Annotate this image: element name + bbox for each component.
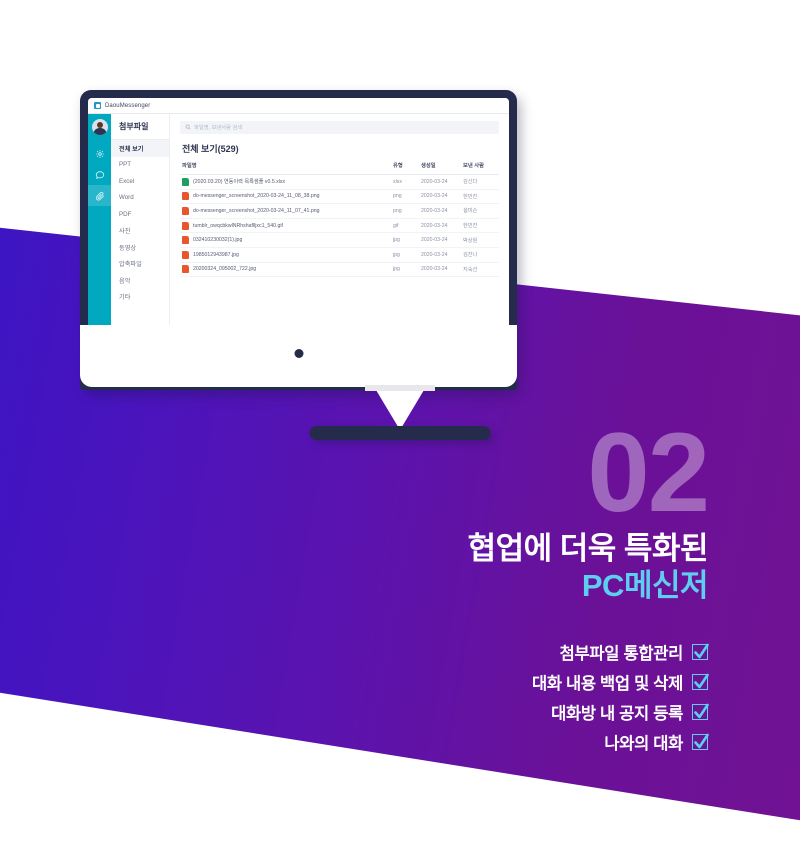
file-name-cell: (2020.03.20) 연동이력 목록샘플 v0.5.xlsx bbox=[182, 178, 393, 186]
checkbox-checked-icon bbox=[692, 704, 708, 720]
column-header-sender: 보낸 사람 bbox=[463, 161, 497, 169]
sidebar-item-word[interactable]: Word bbox=[111, 190, 169, 207]
file-name-cell: do-messenger_screenshot_2020-03-24_11_07… bbox=[182, 207, 393, 215]
file-type-text: png bbox=[393, 208, 421, 214]
avatar-body bbox=[93, 128, 106, 135]
sidebar-item-pdf[interactable]: PDF bbox=[111, 206, 169, 223]
sidebar-header: 첨부파일 bbox=[111, 114, 169, 140]
file-table-header: 파일명 유형 생성일 보낸 사람 bbox=[180, 161, 499, 175]
table-row[interactable]: 1985012943987.jpgjpg2020-03-24김잔나 bbox=[180, 248, 499, 263]
monitor-screen: DaouMessenger bbox=[88, 98, 509, 325]
file-name-cell: 20200324_095002_722.jpg bbox=[182, 265, 393, 273]
search-row: 파일명, 보낸사람 검색 bbox=[180, 114, 499, 140]
file-name-text: 20200324_095002_722.jpg bbox=[193, 266, 256, 272]
file-date-text: 2020-03-24 bbox=[421, 179, 463, 185]
file-sender-text: 지숙선 bbox=[463, 266, 497, 273]
sidebar-item-excel[interactable]: Excel bbox=[111, 173, 169, 190]
content-title: 전체 보기(529) bbox=[180, 140, 499, 161]
checkbox-checked-icon bbox=[692, 644, 708, 660]
chat-bubble-icon[interactable] bbox=[88, 164, 111, 185]
file-type-text: xlsx bbox=[393, 179, 421, 185]
user-avatar[interactable] bbox=[92, 119, 108, 135]
promo-slide: DaouMessenger bbox=[0, 0, 800, 850]
sidebar-item-ppt[interactable]: PPT bbox=[111, 157, 169, 174]
monitor-stand-neck bbox=[373, 385, 427, 430]
file-name-cell: do-messenger_screenshot_2020-03-24_11_08… bbox=[182, 192, 393, 200]
attachment-category-sidebar: 첨부파일 전체 보기 PPT Excel Word PDF 사진 동영상 압축파… bbox=[111, 114, 170, 325]
table-row[interactable]: do-messenger_screenshot_2020-03-24_11_07… bbox=[180, 204, 499, 219]
file-name-text: 1985012943987.jpg bbox=[193, 252, 239, 258]
file-type-icon bbox=[182, 207, 189, 215]
file-sender-text: 한민진 bbox=[463, 222, 497, 229]
file-sender-text: 박상원 bbox=[463, 237, 497, 244]
file-date-text: 2020-03-24 bbox=[421, 208, 463, 214]
file-type-text: gif bbox=[393, 223, 421, 229]
file-type-icon bbox=[182, 192, 189, 200]
file-sender-text: 한민진 bbox=[463, 193, 497, 200]
file-type-text: jpg bbox=[393, 237, 421, 243]
checkbox-checked-icon bbox=[692, 734, 708, 750]
monitor-chin bbox=[80, 325, 517, 387]
file-sender-text: 김잔나 bbox=[463, 251, 497, 258]
file-date-text: 2020-03-24 bbox=[421, 252, 463, 258]
file-type-text: png bbox=[393, 193, 421, 199]
app-title: DaouMessenger bbox=[105, 103, 150, 109]
table-row[interactable]: tumblr_owqcbkwlNRhshaflljxc1_540.gifgif2… bbox=[180, 219, 499, 234]
file-type-icon bbox=[182, 265, 189, 273]
table-row[interactable]: (2020.03.20) 연동이력 목록샘플 v0.5.xlsxxlsx2020… bbox=[180, 175, 499, 190]
promo-headline: 협업에 더욱 특화된 bbox=[468, 531, 708, 568]
table-row[interactable]: 20200324_095002_722.jpgjpg2020-03-24지숙선 bbox=[180, 263, 499, 278]
file-type-icon bbox=[182, 178, 189, 186]
sidebar-item-archive[interactable]: 압축파일 bbox=[111, 256, 169, 273]
file-date-text: 2020-03-24 bbox=[421, 193, 463, 199]
feature-label: 첨부파일 통합관리 bbox=[560, 640, 683, 664]
file-date-text: 2020-03-24 bbox=[421, 223, 463, 229]
attachment-content-panel: 파일명, 보낸사람 검색 전체 보기(529) 파일명 유형 생성일 보낸 사람… bbox=[170, 114, 509, 325]
section-number: 02 bbox=[468, 424, 708, 523]
imac-monitor: DaouMessenger bbox=[80, 90, 517, 390]
search-placeholder: 파일명, 보낸사람 검색 bbox=[194, 123, 242, 131]
file-name-text: do-messenger_screenshot_2020-03-24_11_07… bbox=[193, 208, 320, 214]
checkbox-checked-icon bbox=[692, 674, 708, 690]
daou-logo-icon bbox=[94, 102, 101, 109]
column-header-filename: 파일명 bbox=[182, 161, 393, 169]
feature-item: 대화 내용 백업 및 삭제 bbox=[532, 670, 708, 694]
promo-subheadline: PC메신저 bbox=[468, 568, 708, 605]
file-type-icon bbox=[182, 222, 189, 230]
feature-item: 나와의 대화 bbox=[604, 730, 708, 754]
monitor-stand-base bbox=[310, 426, 491, 440]
feature-item: 첨부파일 통합관리 bbox=[560, 640, 708, 664]
monitor-stand-neck-shade bbox=[365, 385, 435, 391]
feature-label: 대화 내용 백업 및 삭제 bbox=[532, 670, 683, 694]
file-table-body: (2020.03.20) 연동이력 목록샘플 v0.5.xlsxxlsx2020… bbox=[180, 175, 499, 277]
table-row[interactable]: do-messenger_screenshot_2020-03-24_11_08… bbox=[180, 190, 499, 205]
sidebar-item-etc[interactable]: 기타 bbox=[111, 289, 169, 306]
file-name-cell: 1985012943987.jpg bbox=[182, 251, 393, 259]
monitor-logo-dot bbox=[294, 349, 303, 358]
icon-rail bbox=[88, 114, 111, 325]
file-type-text: jpg bbox=[393, 252, 421, 258]
file-sender-text: 설미슨 bbox=[463, 207, 497, 214]
app-body: 첨부파일 전체 보기 PPT Excel Word PDF 사진 동영상 압축파… bbox=[88, 114, 509, 325]
feature-list: 첨부파일 통합관리대화 내용 백업 및 삭제대화방 내 공지 등록나와의 대화 bbox=[532, 640, 708, 754]
feature-label: 나와의 대화 bbox=[604, 730, 683, 754]
file-name-cell: tumblr_owqcbkwlNRhshaflljxc1_540.gif bbox=[182, 222, 393, 230]
paperclip-attachment-icon[interactable] bbox=[88, 185, 111, 206]
promo-text-block: 02 협업에 더욱 특화된 PC메신저 bbox=[468, 424, 708, 605]
file-name-text: do-messenger_screenshot_2020-03-24_11_08… bbox=[193, 193, 320, 199]
table-row[interactable]: 032410230032(1).jpgjpg2020-03-24박상원 bbox=[180, 233, 499, 248]
file-type-icon bbox=[182, 251, 189, 259]
search-icon bbox=[185, 124, 191, 130]
file-name-cell: 032410230032(1).jpg bbox=[182, 236, 393, 244]
file-name-text: (2020.03.20) 연동이력 목록샘플 v0.5.xlsx bbox=[193, 178, 285, 185]
file-name-text: 032410230032(1).jpg bbox=[193, 237, 242, 243]
settings-gear-icon[interactable] bbox=[88, 143, 111, 164]
sidebar-item-video[interactable]: 동영상 bbox=[111, 239, 169, 256]
column-header-type: 유형 bbox=[393, 161, 421, 169]
app-titlebar: DaouMessenger bbox=[88, 98, 509, 114]
file-sender-text: 김신다 bbox=[463, 178, 497, 185]
file-date-text: 2020-03-24 bbox=[421, 266, 463, 272]
feature-item: 대화방 내 공지 등록 bbox=[551, 700, 708, 724]
file-type-icon bbox=[182, 236, 189, 244]
file-type-text: jpg bbox=[393, 266, 421, 272]
search-input[interactable]: 파일명, 보낸사람 검색 bbox=[180, 121, 499, 134]
sidebar-item-all[interactable]: 전체 보기 bbox=[111, 140, 169, 157]
file-name-text: tumblr_owqcbkwlNRhshaflljxc1_540.gif bbox=[193, 223, 283, 229]
monitor-bezel: DaouMessenger bbox=[80, 90, 517, 390]
file-date-text: 2020-03-24 bbox=[421, 237, 463, 243]
sidebar-item-music[interactable]: 음악 bbox=[111, 272, 169, 289]
feature-label: 대화방 내 공지 등록 bbox=[551, 700, 683, 724]
column-header-date: 생성일 bbox=[421, 161, 463, 169]
sidebar-item-photo[interactable]: 사진 bbox=[111, 223, 169, 240]
